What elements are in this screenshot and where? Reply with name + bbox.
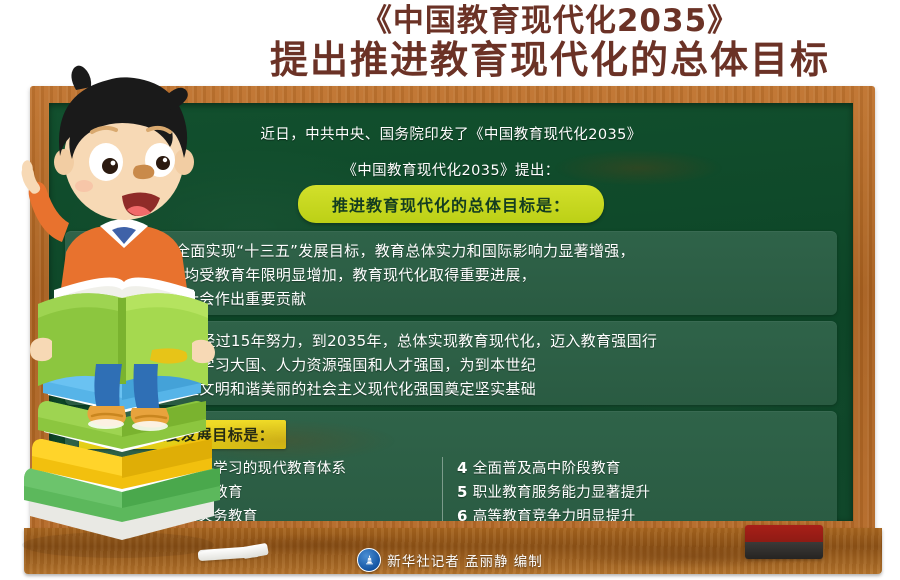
list-item-label: 职业教育服务能力显著提升 (473, 485, 651, 501)
list-item-number: 6 (457, 507, 468, 521)
boy-reading-on-book-stack-illustration (0, 20, 250, 575)
title-line-1: 《中国教育现代化2035》 (200, 2, 900, 40)
page-title: 《中国教育现代化2035》 提出推进教育现代化的总体目标 (200, 2, 900, 82)
list-item-number: 4 (457, 459, 468, 477)
list-item-label: 高等教育竞争力明显提升 (473, 509, 636, 521)
panel-text-line: 全面实现“十三五”发展目标，教育总体实力和国际影响力显著增强， (175, 239, 825, 263)
goals-column-right: 4全面普及高中阶段教育 5职业教育服务能力显著提升 6高等教育竞争力明显提升 7… (442, 457, 827, 521)
list-item-label: 全面普及高中阶段教育 (473, 461, 621, 477)
credit-text: 新华社记者 孟丽静 编制 (387, 550, 543, 570)
title-line-2: 提出推进教育现代化的总体目标 (200, 38, 900, 82)
panel-text-2020: 全面实现“十三五”发展目标，教育总体实力和国际影响力显著增强， 劳动年龄人口平均… (175, 239, 825, 311)
xinhua-logo-icon (357, 548, 381, 572)
overall-goal-pill: 推进教育现代化的总体目标是： (298, 185, 604, 223)
list-item: 6高等教育竞争力明显提升 (457, 505, 819, 521)
list-item: 5职业教育服务能力显著提升 (457, 481, 819, 505)
eraser-top (745, 525, 823, 542)
panel-text-line: 再经过15年努力，到2035年，总体实现教育现代化，迈入教育强国行 (185, 329, 825, 353)
panel-text-2035: 再经过15年努力，到2035年，总体实现教育现代化，迈入教育强国行 列，推动我国… (185, 329, 825, 401)
list-item-number: 5 (457, 483, 468, 501)
list-item: 4全面普及高中阶段教育 (457, 457, 819, 481)
infographic-canvas: 《中国教育现代化2035》 提出推进教育现代化的总体目标 近日，中共中央、国务院… (0, 0, 900, 580)
